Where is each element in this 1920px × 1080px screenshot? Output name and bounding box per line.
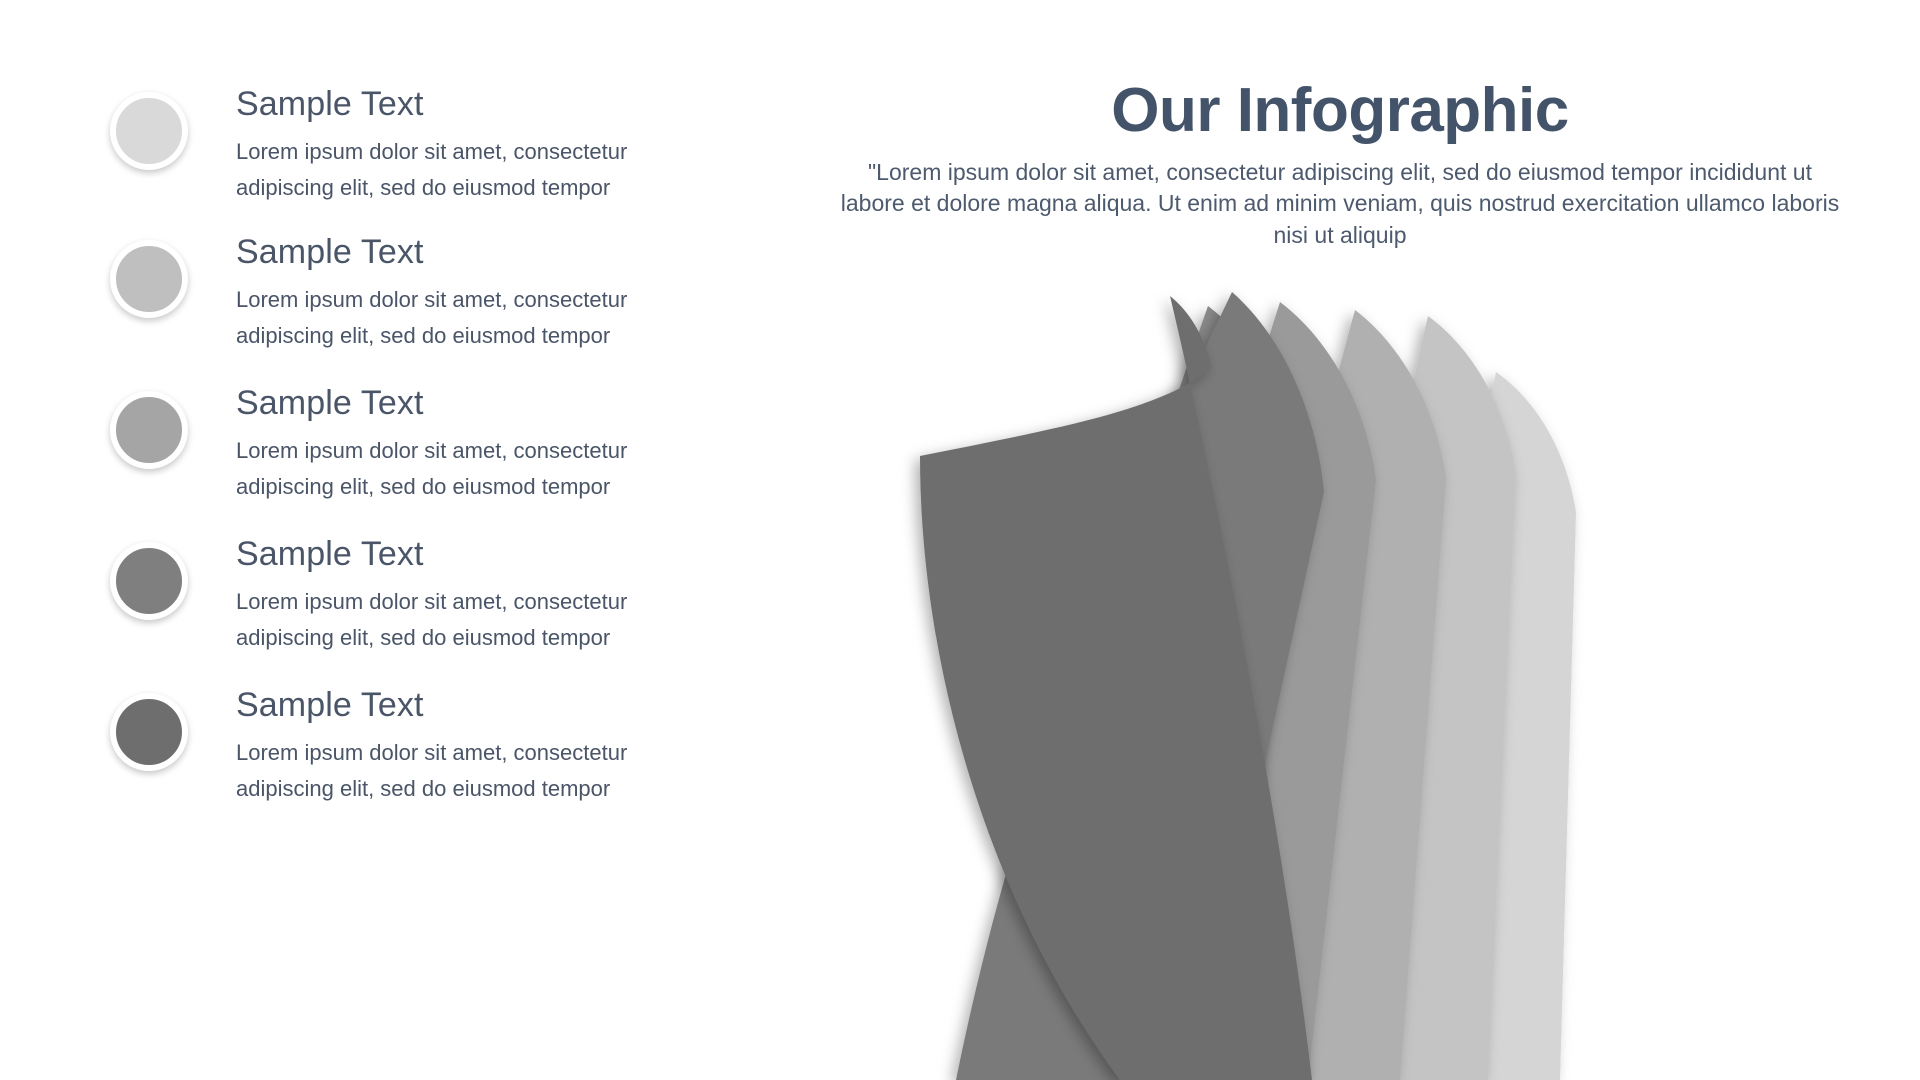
header: Our Infographic "Lorem ipsum dolor sit a… <box>840 78 1840 251</box>
bullet-marker-4 <box>110 542 188 620</box>
layered-fan-petals-graphic <box>860 250 1920 1080</box>
bullet-circle-icon <box>110 240 188 318</box>
petal-7 <box>1405 372 1576 1080</box>
bullet-marker-1 <box>110 92 188 170</box>
petal-1 <box>920 296 1312 1080</box>
list-item-description: Lorem ipsum dolor sit amet, consectetur … <box>236 735 676 806</box>
bullet-marker-2 <box>110 240 188 318</box>
bullet-circle-icon <box>110 391 188 469</box>
bullet-circle-icon <box>110 542 188 620</box>
bullet-marker-3 <box>110 391 188 469</box>
list-item-title: Sample Text <box>236 383 706 423</box>
list-item-description: Lorem ipsum dolor sit amet, consectetur … <box>236 584 676 655</box>
bullet-circle-icon <box>110 92 188 170</box>
petal-6 <box>1312 316 1516 1080</box>
list-item-body: Sample Text Lorem ipsum dolor sit amet, … <box>236 383 706 504</box>
list-item-description: Lorem ipsum dolor sit amet, consectetur … <box>236 134 676 205</box>
list-item-body: Sample Text Lorem ipsum dolor sit amet, … <box>236 232 706 353</box>
list-item-description: Lorem ipsum dolor sit amet, consectetur … <box>236 433 676 504</box>
bullet-circle-icon <box>110 693 188 771</box>
petal-3 <box>1002 306 1308 1080</box>
page-subtitle: "Lorem ipsum dolor sit amet, consectetur… <box>840 157 1840 251</box>
petal-2 <box>956 292 1324 1080</box>
infographic-slide: Our Infographic "Lorem ipsum dolor sit a… <box>0 0 1920 1080</box>
list-item-body: Sample Text Lorem ipsum dolor sit amet, … <box>236 685 706 806</box>
list-item-body: Sample Text Lorem ipsum dolor sit amet, … <box>236 534 706 655</box>
list-item-title: Sample Text <box>236 685 706 725</box>
page-title: Our Infographic <box>840 78 1840 143</box>
petal-4 <box>1106 302 1376 1080</box>
sample-text-list: Sample Text Lorem ipsum dolor sit amet, … <box>0 0 760 1080</box>
bullet-marker-5 <box>110 693 188 771</box>
list-item-description: Lorem ipsum dolor sit amet, consectetur … <box>236 282 676 353</box>
petal-5 <box>1212 310 1446 1080</box>
list-item-title: Sample Text <box>236 534 706 574</box>
list-item-title: Sample Text <box>236 84 706 124</box>
list-item-title: Sample Text <box>236 232 706 272</box>
list-item-body: Sample Text Lorem ipsum dolor sit amet, … <box>236 84 706 205</box>
list-item[interactable]: Sample Text Lorem ipsum dolor sit amet, … <box>0 693 760 878</box>
